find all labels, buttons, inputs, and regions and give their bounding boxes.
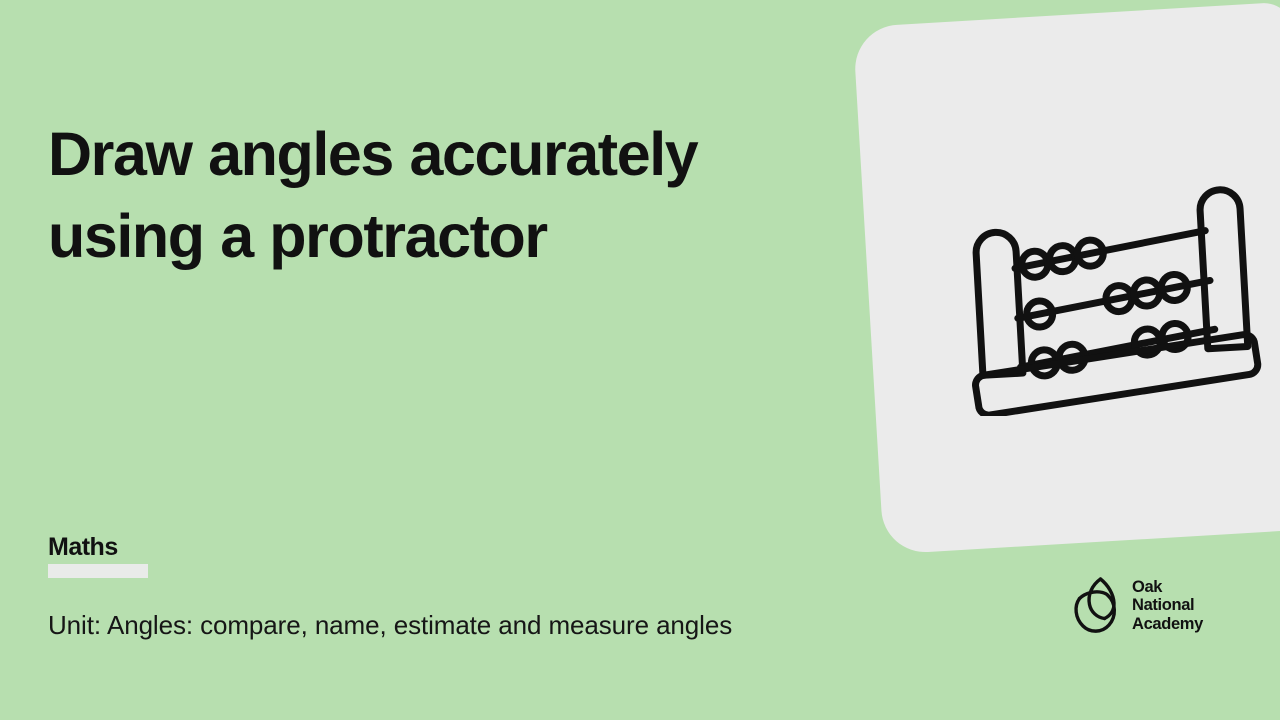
oak-national-academy-logo: Oak National Academy: [1072, 572, 1230, 638]
unit-text: Unit:Angles: compare, name, estimate and…: [48, 606, 878, 644]
logo-line-3: Academy: [1132, 615, 1203, 633]
unit-value: Angles: compare, name, estimate and meas…: [107, 610, 732, 640]
logo-line-2: National: [1132, 596, 1194, 614]
lesson-title-slide: Draw angles accurately using a protracto…: [0, 0, 1280, 720]
subject-underline: [48, 564, 148, 578]
unit-label: Unit:: [48, 610, 101, 640]
logo-line-1: Oak: [1132, 578, 1162, 596]
page-title: Draw angles accurately using a protracto…: [48, 113, 748, 277]
subject-block: Maths: [48, 532, 348, 578]
subject-label: Maths: [48, 532, 348, 562]
logo-wordmark: Oak National Academy: [1132, 577, 1203, 634]
acorn-icon: [1072, 576, 1122, 634]
unit-line: Unit:Angles: compare, name, estimate and…: [48, 606, 878, 644]
abacus-illustration: [958, 150, 1264, 416]
